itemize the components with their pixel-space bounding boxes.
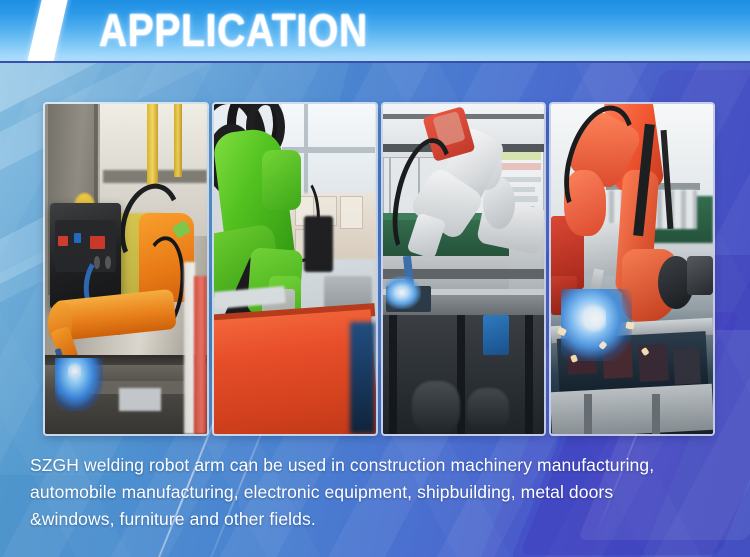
page-title: APPLICATION bbox=[99, 6, 368, 56]
photo-2-scene bbox=[214, 104, 376, 434]
photo-orange-welding-robot bbox=[45, 104, 207, 434]
photo-green-welding-robot bbox=[214, 104, 376, 434]
photo-1-scene bbox=[45, 104, 207, 434]
photo-3-scene bbox=[383, 104, 545, 434]
application-banner: APPLICATION bbox=[0, 0, 750, 557]
banner-header: APPLICATION bbox=[0, 0, 750, 63]
caption-line-1: SZGH welding robot arm can be used in co… bbox=[30, 452, 720, 479]
photo-gallery bbox=[45, 104, 713, 434]
photo-red-welding-robot bbox=[551, 104, 713, 434]
photo-white-welding-robot bbox=[383, 104, 545, 434]
caption-line-3: &windows, furniture and other fields. bbox=[30, 506, 720, 533]
caption-line-2: automobile manufacturing, electronic equ… bbox=[30, 479, 720, 506]
photo-4-scene bbox=[551, 104, 713, 434]
application-caption: SZGH welding robot arm can be used in co… bbox=[30, 452, 720, 533]
diagonal-slash-icon bbox=[25, 0, 70, 63]
